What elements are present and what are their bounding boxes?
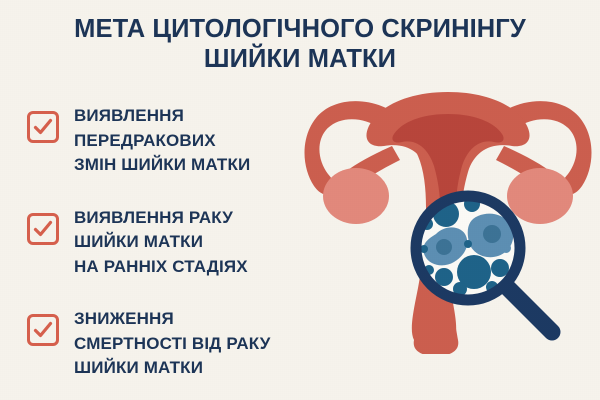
uterus-cavity [392,114,503,206]
list-item[interactable]: ВИЯВЛЕННЯ РАКУ ШИЙКИ МАТКИ НА РАННІХ СТА… [27,206,327,280]
list-item-line: ВИЯВЛЕННЯ РАКУ [74,206,327,231]
list-item-line: ЗМІН ШИЙКИ МАТКИ [74,153,327,178]
infographic-canvas: МЕТА ЦИТОЛОГІЧНОГО СКРИНІНГУ ШИЙКИ МАТКИ [0,0,600,400]
list-item-line: ЗНИЖЕННЯ [74,307,327,332]
right-ovary [507,168,573,224]
cell-dark-6 [491,259,509,277]
title-line-1: МЕТА ЦИТОЛОГІЧНОГО СКРИНІНГУ [0,14,600,44]
list-item-label: ВИЯВЛЕННЯ ПЕРЕДРАКОВИХ ЗМІН ШИЙКИ МАТКИ [74,104,327,178]
list-item-line: ВИЯВЛЕННЯ [74,104,327,129]
checkbox-checked-icon[interactable] [27,213,59,245]
list-item-label: ВИЯВЛЕННЯ РАКУ ШИЙКИ МАТКИ НА РАННІХ СТА… [74,206,327,280]
list-item-line: ПЕРЕДРАКОВИХ [74,129,327,154]
list-item-label: ЗНИЖЕННЯ СМЕРТНОСТІ ВІД РАКУ ШИЙКИ МАТКИ [74,307,327,381]
list-item[interactable]: ЗНИЖЕННЯ СМЕРТНОСТІ ВІД РАКУ ШИЙКИ МАТКИ [27,307,327,381]
magnifier-handle [504,284,552,332]
list-item-line: ШИЙКИ МАТКИ [74,230,327,255]
cell-dark-10 [464,240,472,248]
list-item-line: НА РАННІХ СТАДІЯХ [74,255,327,280]
uterus-with-magnifier-illustration [296,84,600,354]
cell-dark-11 [501,243,511,253]
left-ovary [323,168,389,224]
checkbox-checked-icon[interactable] [27,314,59,346]
list-item-line: СМЕРТНОСТІ ВІД РАКУ [74,332,327,357]
list-item-line: ШИЙКИ МАТКИ [74,356,327,381]
list-item[interactable]: ВИЯВЛЕННЯ ПЕРЕДРАКОВИХ ЗМІН ШИЙКИ МАТКИ [27,104,327,178]
cell-light-left-nucleus [436,239,452,255]
cell-light-right-nucleus [483,225,501,243]
title-line-2: ШИЙКИ МАТКИ [0,44,600,74]
goals-checklist: ВИЯВЛЕННЯ ПЕРЕДРАКОВИХ ЗМІН ШИЙКИ МАТКИ … [27,104,327,381]
page-title: МЕТА ЦИТОЛОГІЧНОГО СКРИНІНГУ ШИЙКИ МАТКИ [0,14,600,74]
checkbox-checked-icon[interactable] [27,111,59,143]
